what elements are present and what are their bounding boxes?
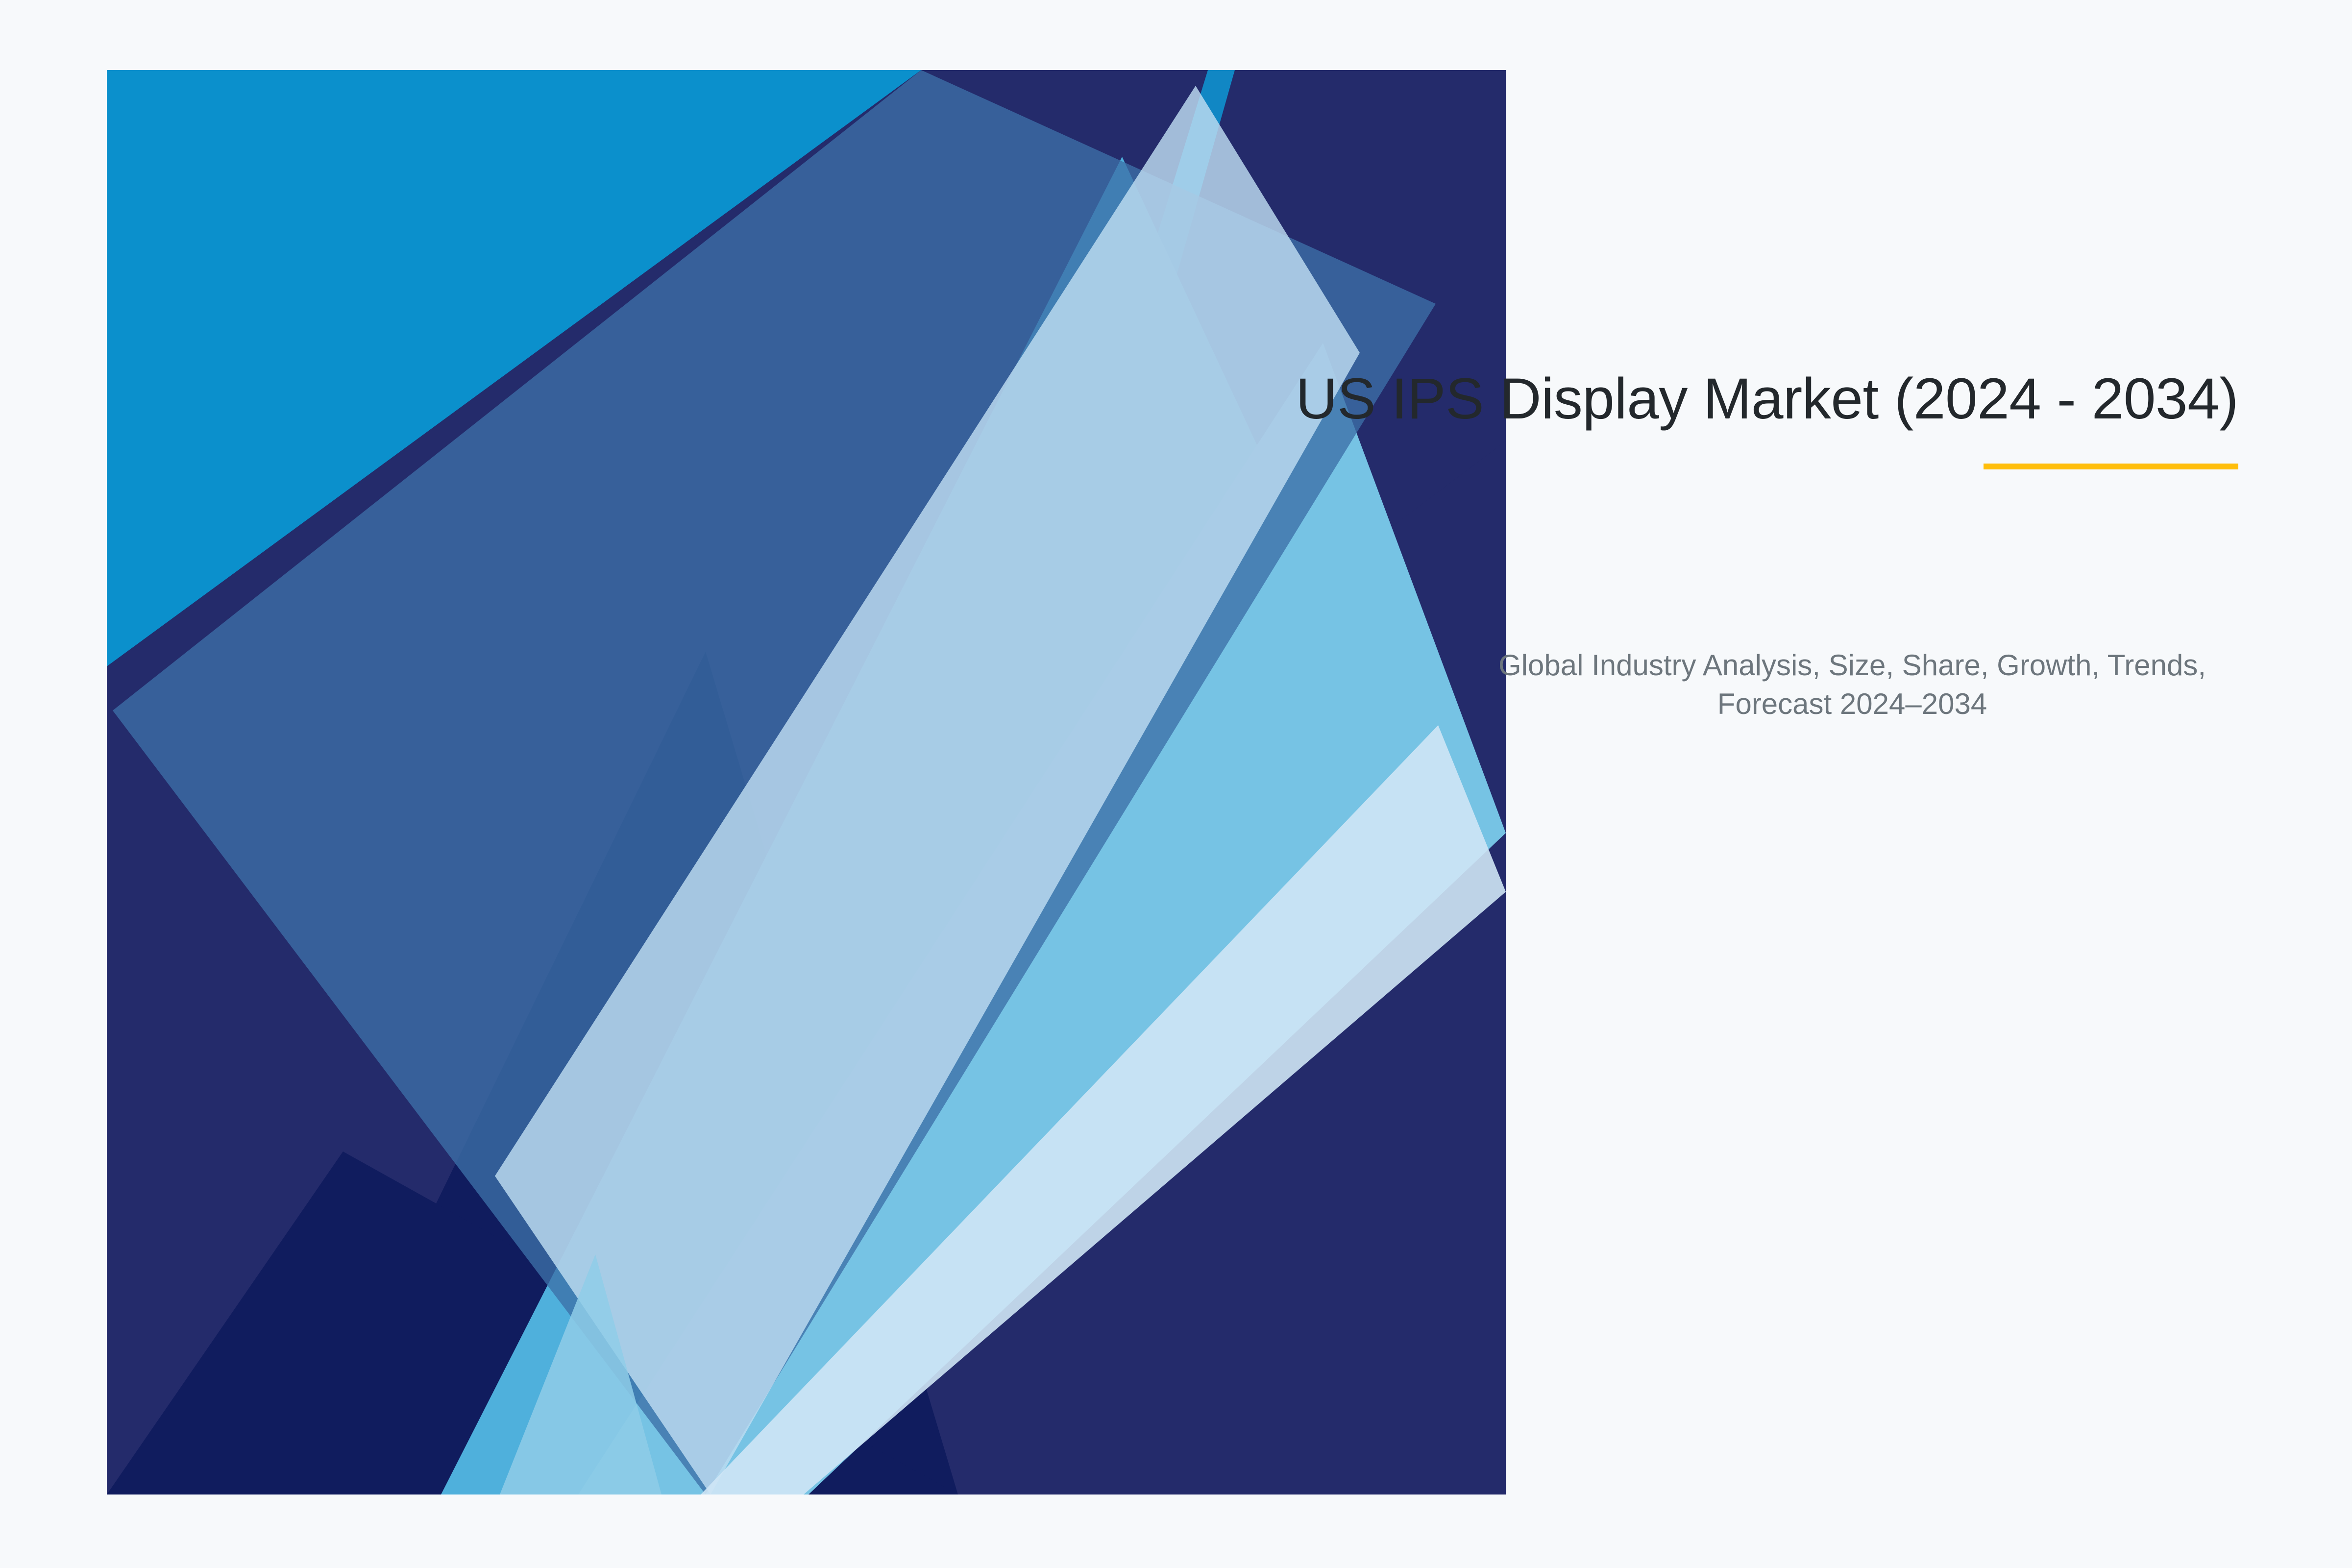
abstract-cover-graphic [0, 0, 2352, 1568]
slide-canvas: US IPS Display Market (2024 - 2034) Glob… [0, 0, 2352, 1568]
shape-cyan-base [107, 70, 1506, 1494]
shape-pale-sliver [701, 725, 1506, 1494]
shape-pale-wedge-bottom [500, 1254, 661, 1494]
title-block: US IPS Display Market (2024 - 2034) [768, 365, 2238, 469]
subtitle-block: Global Industry Analysis, Size, Share, G… [1460, 646, 2244, 723]
shape-navy-upper-diagonal [107, 70, 1506, 1494]
shape-sky-band [441, 157, 1338, 1494]
shape-navy-main [107, 70, 1506, 1494]
shape-slate-panel [113, 70, 1436, 1494]
page-title: US IPS Display Market (2024 - 2034) [768, 365, 2238, 433]
shape-navy-dark-lower [294, 652, 958, 1494]
shape-navy-dark-bottom [107, 1151, 958, 1494]
shape-sky-band-light [578, 343, 1506, 1494]
page-subtitle: Global Industry Analysis, Size, Share, G… [1460, 646, 2244, 723]
shape-pale-panel [495, 86, 1360, 1494]
accent-rule [1984, 464, 2238, 469]
